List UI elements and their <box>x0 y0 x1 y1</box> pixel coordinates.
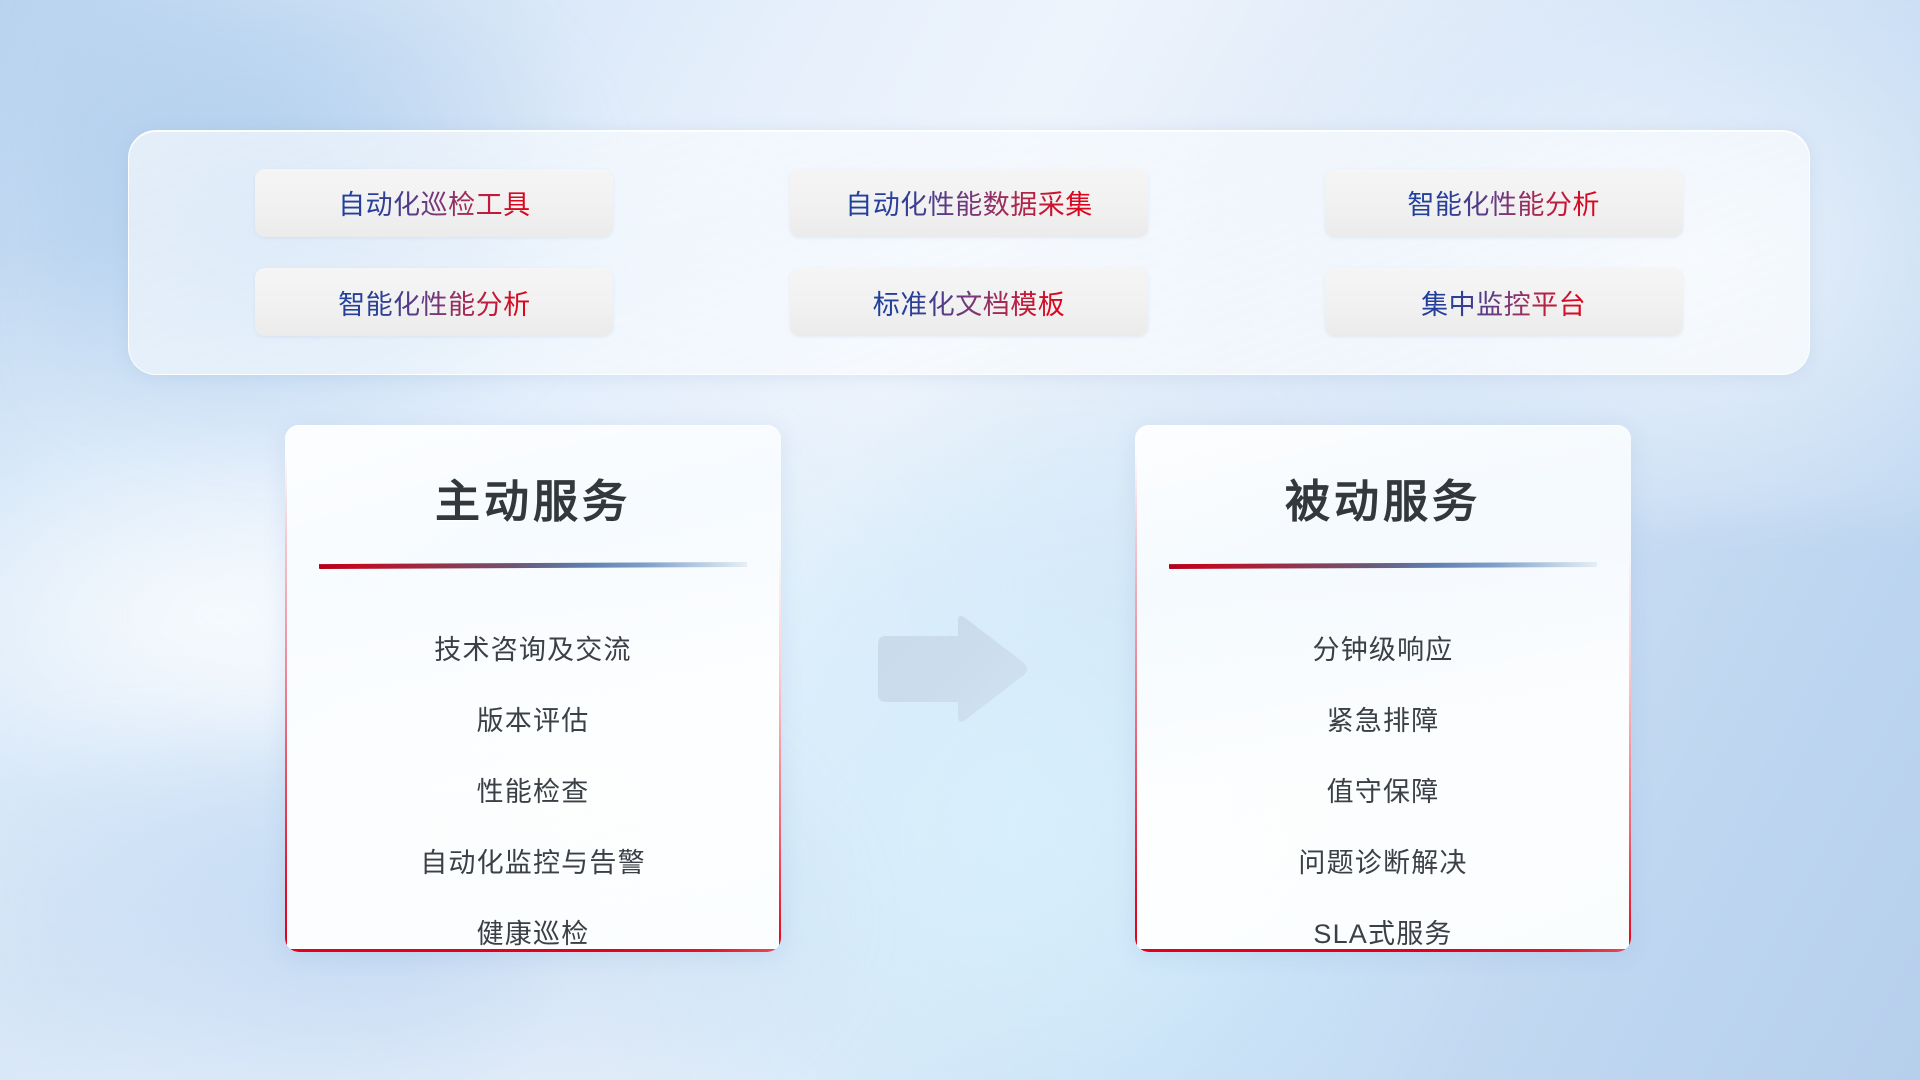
capability-pill[interactable]: 集中监控平台 <box>1325 268 1683 336</box>
capability-pill-label: 智能化性能分析 <box>1407 183 1600 222</box>
capability-pill-surface: 自动化性能数据采集 <box>790 169 1148 237</box>
capability-pill-surface: 智能化性能分析 <box>255 268 613 336</box>
service-card-divider <box>319 562 747 569</box>
capability-pill[interactable]: 标准化文档模板 <box>790 268 1148 336</box>
capability-panel: 自动化巡检工具 自动化性能数据采集 智能化性能分析 智能化性能分析 标准化文档模… <box>128 130 1810 375</box>
capability-pill-surface: 智能化性能分析 <box>1325 169 1683 237</box>
capability-pill-label: 智能化性能分析 <box>338 283 531 322</box>
capability-pill[interactable]: 智能化性能分析 <box>255 268 613 336</box>
capability-pill-label: 集中监控平台 <box>1421 283 1586 322</box>
service-card-item-list: 技术咨询及交流 版本评估 性能检查 自动化监控与告警 健康巡检 <box>285 615 781 952</box>
capability-pill-grid: 自动化巡检工具 自动化性能数据采集 智能化性能分析 智能化性能分析 标准化文档模… <box>129 131 1809 374</box>
service-list-item: 自动化监控与告警 <box>285 828 781 899</box>
capability-pill-surface: 标准化文档模板 <box>790 268 1148 336</box>
service-list-item: SLA式服务 <box>1135 899 1631 952</box>
service-list-item: 值守保障 <box>1135 757 1631 828</box>
service-list-item: 技术咨询及交流 <box>285 615 781 686</box>
service-list-item: 问题诊断解决 <box>1135 828 1631 899</box>
capability-pill-surface: 集中监控平台 <box>1325 268 1683 336</box>
service-list-item: 紧急排障 <box>1135 686 1631 757</box>
capability-pill-label: 自动化性能数据采集 <box>845 183 1093 222</box>
flow-arrow-right-icon <box>872 614 1032 726</box>
service-card-title: 主动服务 <box>285 465 781 530</box>
capability-pill-label: 标准化文档模板 <box>873 283 1066 322</box>
service-card-title: 被动服务 <box>1135 465 1631 530</box>
service-card-divider <box>1169 562 1597 569</box>
capability-pill-label: 自动化巡检工具 <box>338 183 531 222</box>
service-list-item: 分钟级响应 <box>1135 615 1631 686</box>
capability-pill[interactable]: 自动化性能数据采集 <box>790 169 1148 237</box>
capability-pill-surface: 自动化巡检工具 <box>255 169 613 237</box>
service-list-item: 健康巡检 <box>285 899 781 952</box>
capability-pill[interactable]: 自动化巡检工具 <box>255 169 613 237</box>
service-card-passive[interactable]: 被动服务 分钟级响应 紧急排障 值守保障 问题诊断解决 SLA式服务 <box>1135 425 1631 952</box>
capability-pill[interactable]: 智能化性能分析 <box>1325 169 1683 237</box>
service-card-active[interactable]: 主动服务 技术咨询及交流 版本评估 性能检查 自动化监控与告警 健康巡检 <box>285 425 781 952</box>
service-list-item: 性能检查 <box>285 757 781 828</box>
service-card-item-list: 分钟级响应 紧急排障 值守保障 问题诊断解决 SLA式服务 <box>1135 615 1631 952</box>
service-list-item: 版本评估 <box>285 686 781 757</box>
